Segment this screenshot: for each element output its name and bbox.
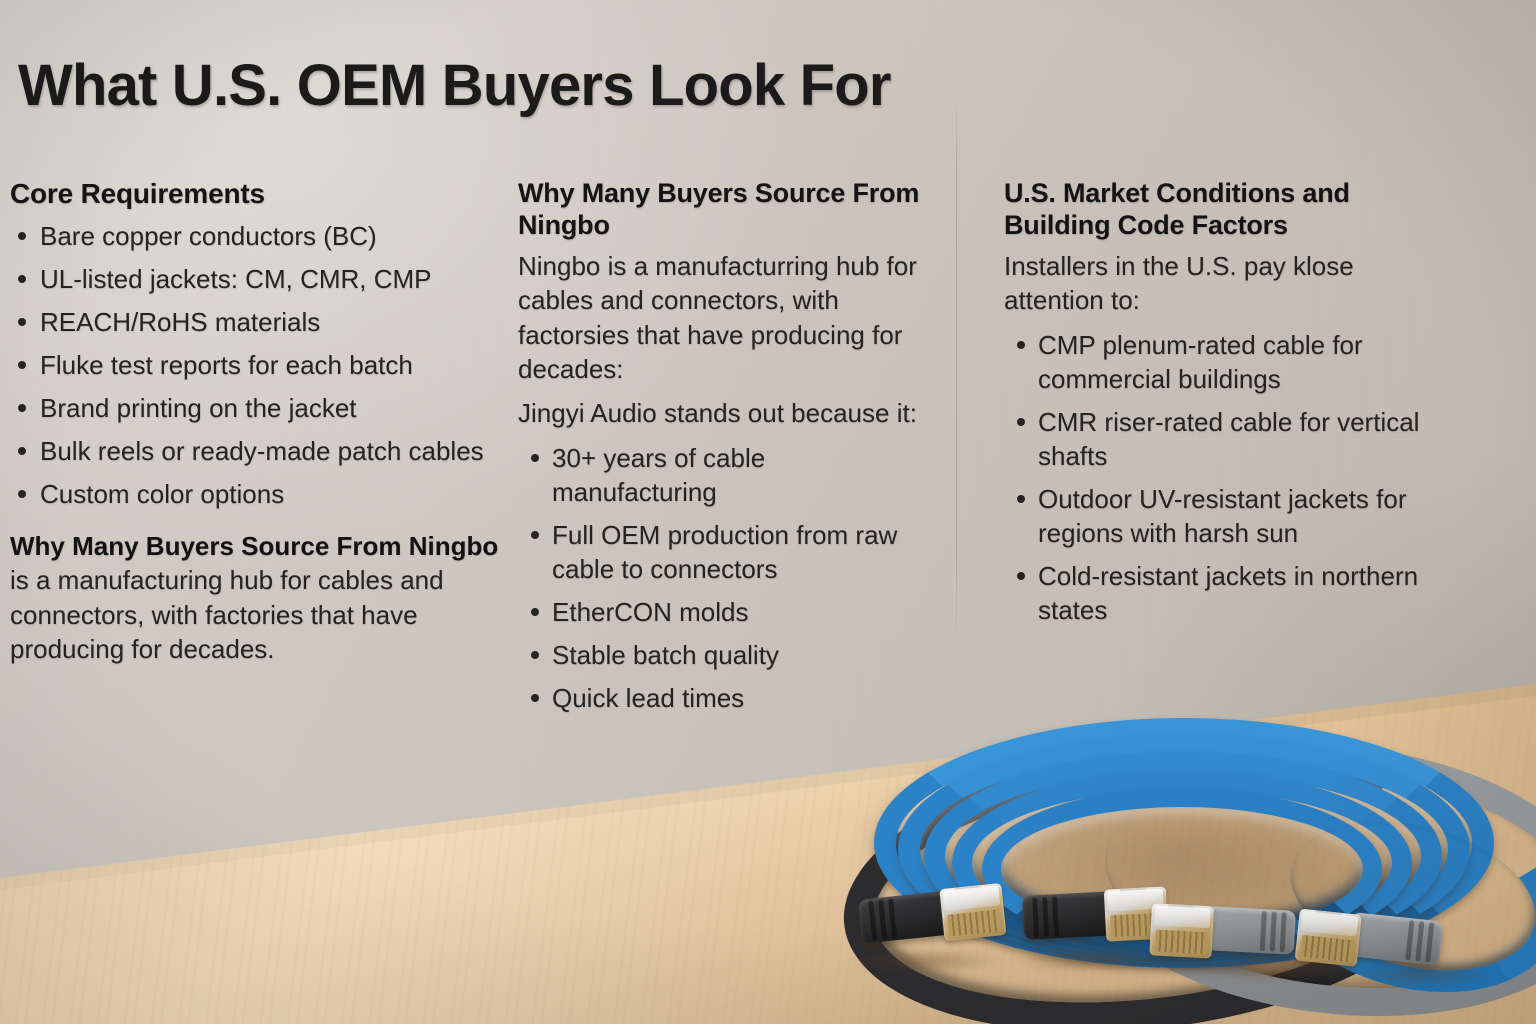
ningbo-summary-bold: Why Many Buyers Source From Ningbo <box>10 531 498 561</box>
jingyi-advantages-list: 30+ years of cable manufacturing Full OE… <box>518 441 924 715</box>
column-why-source-ningbo: Why Many Buyers Source From Ningbo Ningb… <box>518 178 924 724</box>
list-item: Quick lead times <box>518 681 924 715</box>
list-item: REACH/RoHS materials <box>10 305 502 339</box>
poster-text-layer: What U.S. OEM Buyers Look For Core Requi… <box>0 0 1536 1024</box>
ningbo-summary-rest: is a manufacturing hub for cables and co… <box>10 565 444 664</box>
column-us-market-conditions: U.S. Market Conditions and Building Code… <box>1004 178 1446 636</box>
list-item: Stable batch quality <box>518 638 924 672</box>
column-heading: U.S. Market Conditions and Building Code… <box>1004 178 1446 241</box>
list-item: CMP plenum-rated cable for commercial bu… <box>1004 328 1446 396</box>
list-item: UL-listed jackets: CM, CMR, CMP <box>10 262 502 296</box>
list-item: Fluke test reports for each batch <box>10 348 502 382</box>
column-heading: Core Requirements <box>10 178 502 211</box>
ningbo-summary-paragraph: Why Many Buyers Source From Ningbo is a … <box>10 529 502 666</box>
list-item: Custom color options <box>10 477 502 511</box>
list-item: Brand printing on the jacket <box>10 391 502 425</box>
list-item: Bare copper conductors (BC) <box>10 219 502 253</box>
list-item: EtherCON molds <box>518 595 924 629</box>
core-requirements-list: Bare copper conductors (BC) UL-listed ja… <box>10 219 502 511</box>
ningbo-intro-paragraph: Ningbo is a manufacturring hub for cable… <box>518 249 924 386</box>
list-item: CMR riser-rated cable for vertical shaft… <box>1004 405 1446 473</box>
list-item: Full OEM production from raw cable to co… <box>518 518 924 586</box>
list-item: Cold-resistant jackets in northern state… <box>1004 559 1446 627</box>
poster-canvas: What U.S. OEM Buyers Look For Core Requi… <box>0 0 1536 1024</box>
page-title: What U.S. OEM Buyers Look For <box>18 56 1118 117</box>
jingyi-lead-paragraph: Jingyi Audio stands out because it: <box>518 396 924 430</box>
column-heading: Why Many Buyers Source From Ningbo <box>518 178 924 241</box>
column-core-requirements: Core Requirements Bare copper conductors… <box>10 178 502 676</box>
list-item: 30+ years of cable manufacturing <box>518 441 924 509</box>
list-item: Bulk reels or ready-made patch cables <box>10 434 502 468</box>
list-item: Outdoor UV-resistant jackets for regions… <box>1004 482 1446 550</box>
installers-intro-paragraph: Installers in the U.S. pay klose attenti… <box>1004 249 1446 318</box>
building-code-list: CMP plenum-rated cable for commercial bu… <box>1004 328 1446 627</box>
